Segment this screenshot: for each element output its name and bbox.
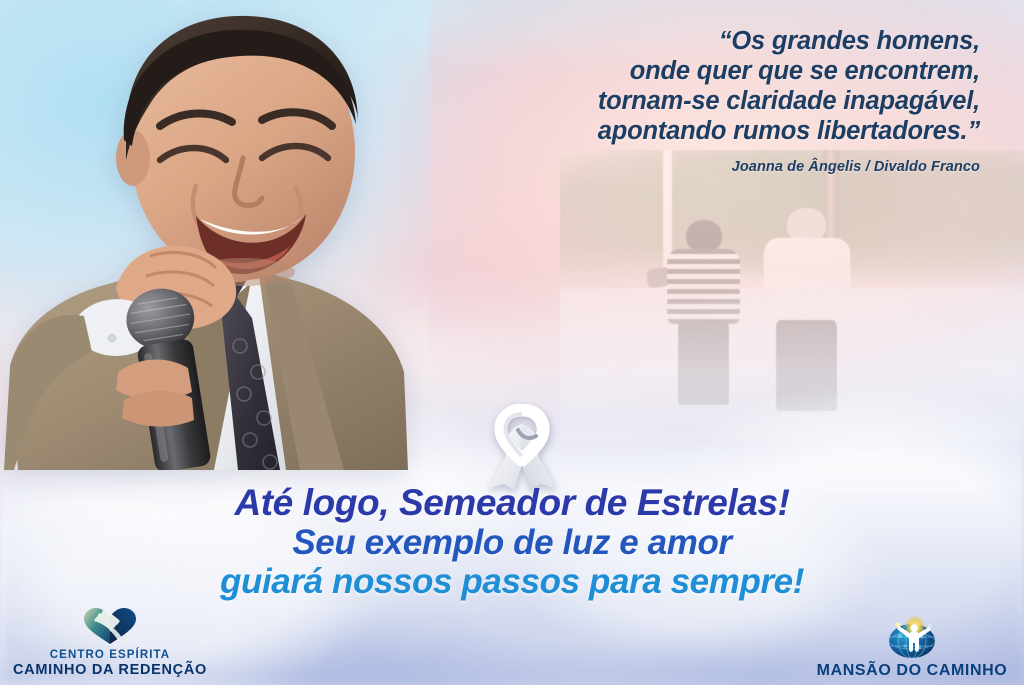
headline-line-2: Seu exemplo de luz e amor xyxy=(0,525,1024,560)
logo-centro-espirita: CENTRO ESPÍRITA CAMINHO DA REDENÇÃO xyxy=(6,607,214,679)
quote-line-3: tornam-se claridade inapagável, xyxy=(340,86,980,116)
globe-figure-icon xyxy=(886,615,938,661)
quote-block: “Os grandes homens, onde quer que se enc… xyxy=(340,26,980,175)
quote-attribution: Joanna de Ângelis / Divaldo Franco xyxy=(340,159,980,175)
logo-right-line-2: MANSÃO DO CAMINHO xyxy=(817,662,1008,679)
logo-mansao-do-caminho: MANSÃO DO CAMINHO xyxy=(806,615,1018,679)
logo-left-line-1: CENTRO ESPÍRITA xyxy=(50,648,170,662)
logo-left-line-2: CAMINHO DA REDENÇÃO xyxy=(13,662,207,679)
headline-block: Até logo, Semeador de Estrelas! Seu exem… xyxy=(0,484,1024,599)
headline-line-1: Até logo, Semeador de Estrelas! xyxy=(0,484,1024,521)
quote-line-2: onde quer que se encontrem, xyxy=(340,56,980,86)
heart-hands-icon xyxy=(82,607,138,645)
tribute-poster: “Os grandes homens, onde quer que se enc… xyxy=(0,0,1024,685)
figure-head xyxy=(787,208,826,243)
figure-head xyxy=(686,220,723,253)
quote-line-1: “Os grandes homens, xyxy=(340,26,980,56)
quote-line-4: apontando rumos libertadores.” xyxy=(340,116,980,146)
white-ribbon-icon xyxy=(480,404,564,490)
headline-line-3: guiará nossos passos para sempre! xyxy=(0,564,1024,599)
